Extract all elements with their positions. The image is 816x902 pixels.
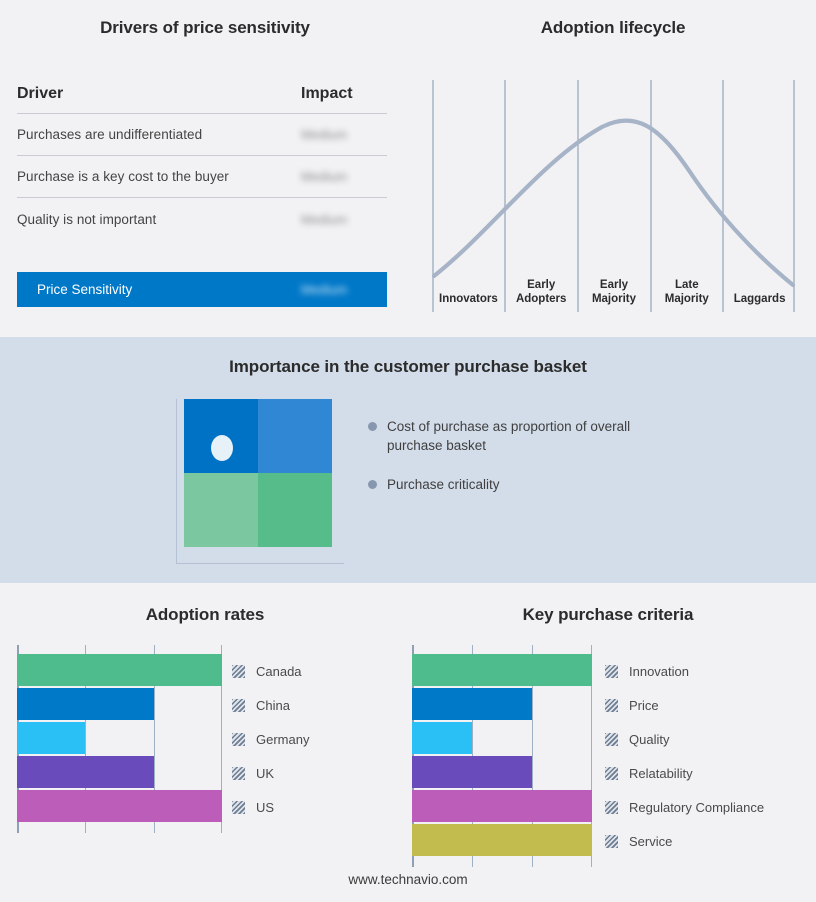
- redacted-impact-value: Medium: [301, 169, 347, 184]
- bar: [17, 654, 222, 686]
- quadrant-bottom-right: [258, 473, 332, 547]
- legend-item: China: [232, 688, 309, 722]
- legend-item: Relatability: [605, 756, 764, 790]
- basket-legend: Cost of purchase as proportion of overal…: [368, 417, 768, 514]
- legend-item: Canada: [232, 654, 309, 688]
- adoption-rates-panel: Adoption rates CanadaChinaGermanyUKUS: [0, 583, 410, 902]
- legend-label: Innovation: [629, 664, 689, 679]
- bar-row: [412, 790, 592, 822]
- legend-label: China: [256, 698, 290, 713]
- redacted-impact-value: Medium: [301, 127, 347, 142]
- adoption-rates-title: Adoption rates: [0, 605, 410, 625]
- basket-matrix: [176, 399, 344, 564]
- column-header-driver: Driver: [17, 85, 301, 103]
- legend-item: Regulatory Compliance: [605, 790, 764, 824]
- redacted-impact-value: Medium: [301, 282, 347, 297]
- legend-label: Service: [629, 834, 672, 849]
- price-sensitivity-highlight-row: Price Sensitivity Medium: [17, 272, 387, 307]
- hatch-swatch-icon: [232, 733, 245, 746]
- matrix-position-marker: [211, 435, 233, 461]
- footer: www.technavio.com: [0, 872, 816, 887]
- list-item: Purchase criticality: [368, 475, 768, 494]
- adoption-rates-chart: [17, 645, 222, 833]
- legend-label: Relatability: [629, 766, 693, 781]
- legend-item: Innovation: [605, 654, 764, 688]
- bar-row: [17, 790, 222, 822]
- legend-label: Regulatory Compliance: [629, 800, 764, 815]
- infographic-page: Drivers of price sensitivity Driver Impa…: [0, 0, 816, 902]
- highlight-label: Price Sensitivity: [37, 282, 301, 297]
- table-row: Purchases are undifferentiated Medium: [17, 114, 387, 156]
- bar-row: [17, 688, 222, 720]
- driver-name: Quality is not important: [17, 212, 301, 227]
- bar-row: [17, 654, 222, 686]
- bar: [412, 824, 592, 856]
- criteria-plot-area: [412, 645, 592, 867]
- legend-item: Quality: [605, 722, 764, 756]
- top-section: Drivers of price sensitivity Driver Impa…: [0, 0, 816, 337]
- bottom-section: Adoption rates CanadaChinaGermanyUKUS Ke…: [0, 583, 816, 902]
- list-item: Cost of purchase as proportion of overal…: [368, 417, 768, 455]
- hatch-swatch-icon: [605, 733, 618, 746]
- bar: [17, 722, 85, 754]
- bar: [17, 790, 222, 822]
- adoption-legend: CanadaChinaGermanyUKUS: [232, 645, 309, 824]
- legend-item: Germany: [232, 722, 309, 756]
- quadrant-top-left: [184, 399, 258, 473]
- hatch-swatch-icon: [605, 767, 618, 780]
- bar: [412, 688, 532, 720]
- stage-label-line: Adopters: [516, 293, 566, 305]
- lifecycle-stage-early-adopters: EarlyAdopters: [505, 262, 578, 308]
- criteria-bars: [412, 645, 592, 867]
- quadrant-bottom-left: [184, 473, 258, 547]
- basket-legend-label: Purchase criticality: [387, 475, 500, 494]
- key-purchase-criteria-panel: Key purchase criteria InnovationPriceQua…: [400, 583, 816, 902]
- bar: [17, 688, 154, 720]
- key-purchase-criteria-chart: [412, 645, 592, 867]
- lifecycle-stage-innovators: Innovators: [432, 262, 505, 308]
- stage-label-line: Majority: [592, 293, 636, 305]
- driver-name: Purchases are undifferentiated: [17, 127, 301, 142]
- legend-label: Canada: [256, 664, 302, 679]
- quadrant-top-right: [258, 399, 332, 473]
- bar: [412, 756, 532, 788]
- basket-legend-label: Cost of purchase as proportion of overal…: [387, 417, 649, 455]
- column-header-impact: Impact: [301, 85, 387, 103]
- lifecycle-panel: Adoption lifecycle Innovators: [410, 0, 816, 337]
- matrix-quadrants: [184, 399, 332, 547]
- legend-label: Quality: [629, 732, 669, 747]
- legend-label: Price: [629, 698, 659, 713]
- bar-row: [412, 722, 592, 754]
- hatch-swatch-icon: [232, 801, 245, 814]
- driver-impact: Medium: [301, 212, 387, 227]
- drivers-table: Driver Impact Purchases are undifferenti…: [17, 85, 387, 240]
- driver-name: Purchase is a key cost to the buyer: [17, 169, 301, 184]
- bar-row: [412, 688, 592, 720]
- bar-row: [17, 722, 222, 754]
- adoption-bars: [17, 645, 222, 833]
- key-purchase-criteria-title: Key purchase criteria: [400, 605, 816, 625]
- stage-label-line: Innovators: [439, 293, 498, 305]
- hatch-swatch-icon: [605, 699, 618, 712]
- legend-item: US: [232, 790, 309, 824]
- adoption-plot-area: [17, 645, 222, 833]
- drivers-title: Drivers of price sensitivity: [0, 18, 410, 38]
- legend-label: US: [256, 800, 274, 815]
- bar-row: [17, 756, 222, 788]
- lifecycle-stage-laggards: Laggards: [723, 262, 796, 308]
- table-row: Quality is not important Medium: [17, 198, 387, 240]
- drivers-panel: Drivers of price sensitivity Driver Impa…: [0, 0, 410, 337]
- lifecycle-stage-late-majority: LateMajority: [650, 262, 723, 308]
- bar-row: [412, 654, 592, 686]
- bullet-dot-icon: [368, 480, 377, 489]
- adoption-bell-curve: [434, 121, 793, 285]
- driver-impact: Medium: [301, 169, 387, 184]
- bar: [17, 756, 154, 788]
- legend-label: Germany: [256, 732, 309, 747]
- stage-label-line: Early: [527, 279, 555, 291]
- bullet-dot-icon: [368, 422, 377, 431]
- bar: [412, 790, 592, 822]
- footer-url: www.technavio.com: [348, 872, 467, 887]
- legend-item: Price: [605, 688, 764, 722]
- drivers-table-header: Driver Impact: [17, 85, 387, 114]
- basket-title: Importance in the customer purchase bask…: [0, 357, 816, 377]
- matrix-y-axis: [176, 399, 177, 564]
- lifecycle-title: Adoption lifecycle: [410, 18, 816, 38]
- bar-row: [412, 756, 592, 788]
- hatch-swatch-icon: [605, 801, 618, 814]
- table-row: Purchase is a key cost to the buyer Medi…: [17, 156, 387, 198]
- redacted-impact-value: Medium: [301, 212, 347, 227]
- legend-item: UK: [232, 756, 309, 790]
- hatch-swatch-icon: [605, 665, 618, 678]
- bar: [412, 654, 592, 686]
- stage-label-line: Majority: [665, 293, 709, 305]
- bar-row: [412, 824, 592, 856]
- basket-section: Importance in the customer purchase bask…: [0, 337, 816, 583]
- criteria-legend: InnovationPriceQualityRelatabilityRegula…: [605, 645, 764, 858]
- stage-label-line: Late: [675, 279, 699, 291]
- hatch-swatch-icon: [232, 665, 245, 678]
- driver-impact: Medium: [301, 127, 387, 142]
- lifecycle-stage-early-majority: EarlyMajority: [578, 262, 651, 308]
- lifecycle-stage-labels: Innovators EarlyAdopters EarlyMajority L…: [432, 262, 796, 308]
- hatch-swatch-icon: [232, 767, 245, 780]
- highlight-impact: Medium: [301, 282, 387, 297]
- matrix-x-axis: [176, 563, 344, 564]
- hatch-swatch-icon: [232, 699, 245, 712]
- legend-label: UK: [256, 766, 274, 781]
- bar: [412, 722, 472, 754]
- hatch-swatch-icon: [605, 835, 618, 848]
- stage-label-line: Laggards: [734, 293, 786, 305]
- stage-label-line: Early: [600, 279, 628, 291]
- legend-item: Service: [605, 824, 764, 858]
